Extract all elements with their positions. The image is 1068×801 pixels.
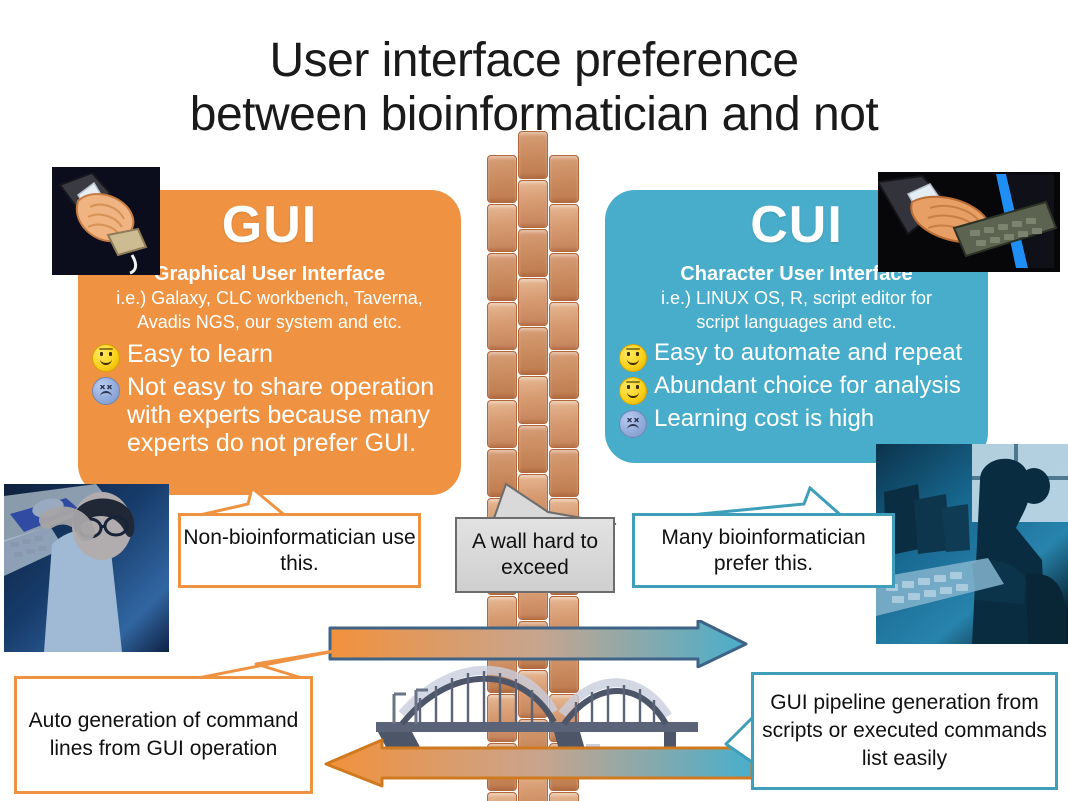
brick [518, 229, 548, 277]
brick [518, 376, 548, 424]
cui-bullet-1: Easy to automate and repeat [619, 340, 988, 372]
happy-face-icon [619, 377, 647, 405]
gui-bullet-2: Not easy to share operation with experts… [92, 373, 461, 457]
person-at-computers-photo [876, 444, 1068, 644]
title-line-1: User interface preference [0, 34, 1068, 88]
cui-bullet-3-label: Learning cost is high [654, 406, 874, 433]
brick [518, 278, 548, 326]
page-title: User interface preference between bioinf… [0, 34, 1068, 142]
cui-bullet-1-label: Easy to automate and repeat [654, 340, 962, 367]
woman-at-computer-photo [4, 484, 169, 652]
gui-examples-line-2: Avadis NGS, our system and etc. [78, 312, 461, 334]
gui-bullet-1: Easy to learn [92, 340, 461, 372]
brick [487, 400, 517, 448]
brick [487, 302, 517, 350]
arrow-gui-to-cui [328, 620, 748, 668]
arrow-cui-to-gui [322, 738, 754, 788]
brick [549, 302, 579, 350]
hands-on-keyboard-icon [878, 172, 1060, 272]
happy-face-icon [92, 344, 120, 372]
hand-on-mouse-icon [52, 167, 160, 275]
slide-canvas: User interface preference between bioinf… [0, 0, 1068, 801]
brick [487, 204, 517, 252]
gui-bullet-1-label: Easy to learn [127, 340, 273, 368]
brick [487, 155, 517, 203]
brick [518, 425, 548, 473]
brick [549, 253, 579, 301]
cui-bullet-2: Abundant choice for analysis [619, 373, 988, 405]
callout-many-bioinformatician: Many bioinformatician prefer this. [632, 513, 895, 588]
callout-wall-hard-to-exceed: A wall hard to exceed [455, 517, 615, 593]
cui-bullet-2-label: Abundant choice for analysis [654, 373, 961, 400]
bottom-box-auto-generation: Auto generation of command lines from GU… [14, 676, 313, 794]
brick [487, 792, 517, 801]
gui-bullet-list: Easy to learn Not easy to share operatio… [78, 340, 461, 457]
brick [549, 204, 579, 252]
brick [549, 155, 579, 203]
callout-non-bioinformatician: Non-bioinformatician use this. [178, 513, 421, 588]
sad-face-icon [619, 410, 647, 438]
brick [518, 180, 548, 228]
sad-face-icon [92, 377, 120, 405]
cui-bullet-3: Learning cost is high [619, 406, 988, 438]
brick [487, 253, 517, 301]
cui-examples-line-2: script languages and etc. [605, 312, 988, 334]
gui-examples-line-1: i.e.) Galaxy, CLC workbench, Taverna, [78, 288, 461, 310]
brick [549, 351, 579, 399]
happy-face-icon [619, 344, 647, 372]
cui-bullet-list: Easy to automate and repeat Abundant cho… [605, 340, 988, 438]
brick [518, 131, 548, 179]
brick [487, 351, 517, 399]
brick [518, 327, 548, 375]
gui-bullet-2-label: Not easy to share operation with experts… [127, 373, 461, 457]
brick [549, 400, 579, 448]
cui-examples-line-1: i.e.) LINUX OS, R, script editor for [605, 288, 988, 310]
bottom-box-gui-pipeline: GUI pipeline generation from scripts or … [751, 672, 1058, 790]
brick [549, 792, 579, 801]
